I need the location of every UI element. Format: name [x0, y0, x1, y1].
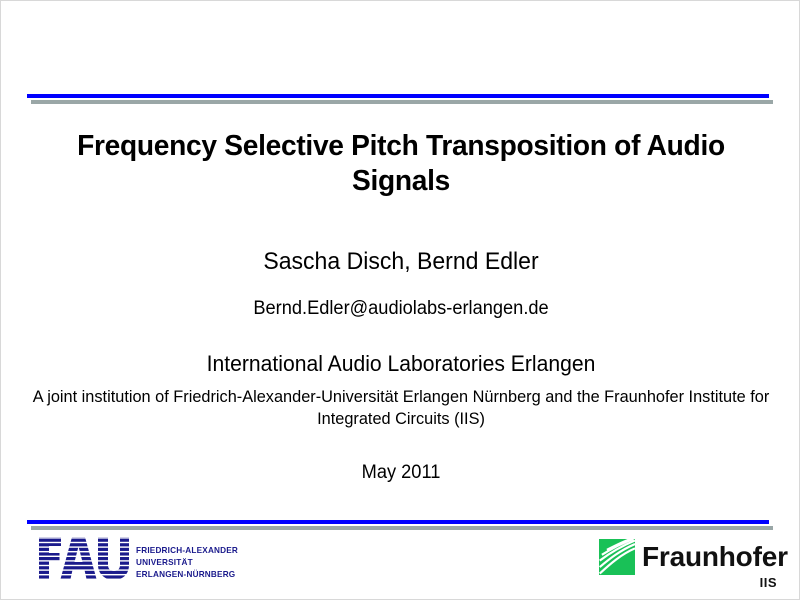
top-divider-blue-line	[27, 94, 769, 98]
institution-detail: A joint institution of Friedrich-Alexand…	[17, 386, 785, 431]
institution-name: International Audio Laboratories Erlange…	[17, 351, 785, 377]
fraunhofer-wordmark: Fraunhofer	[642, 539, 788, 575]
title-slide: Frequency Selective Pitch Transposition …	[0, 0, 800, 600]
bottom-divider	[27, 520, 769, 530]
fau-line-2: UNIVERSITÄT	[136, 557, 238, 569]
fau-line-3: ERLANGEN-NÜRNBERG	[136, 569, 238, 581]
fau-line-1: FRIEDRICH-ALEXANDER	[136, 545, 238, 557]
fau-wordmark: FRIEDRICH-ALEXANDER UNIVERSITÄT ERLANGEN…	[136, 545, 238, 581]
contact-email: Bernd.Edler@audiolabs-erlangen.de	[17, 298, 785, 320]
fau-mark-icon	[39, 534, 129, 580]
page-title: Frequency Selective Pitch Transposition …	[52, 129, 750, 200]
fraunhofer-institute-label: IIS	[760, 575, 777, 590]
bottom-divider-blue-line	[27, 520, 769, 524]
fraunhofer-logo: Fraunhofer IIS	[599, 537, 779, 593]
fraunhofer-mark-icon	[599, 539, 635, 575]
authors-line: Sascha Disch, Bernd Edler	[17, 248, 785, 276]
top-divider	[27, 94, 769, 104]
top-divider-shadow-line	[31, 100, 773, 104]
date-line: May 2011	[17, 462, 785, 484]
bottom-divider-shadow-line	[31, 526, 773, 530]
fau-logo: FRIEDRICH-ALEXANDER UNIVERSITÄT ERLANGEN…	[39, 534, 251, 584]
